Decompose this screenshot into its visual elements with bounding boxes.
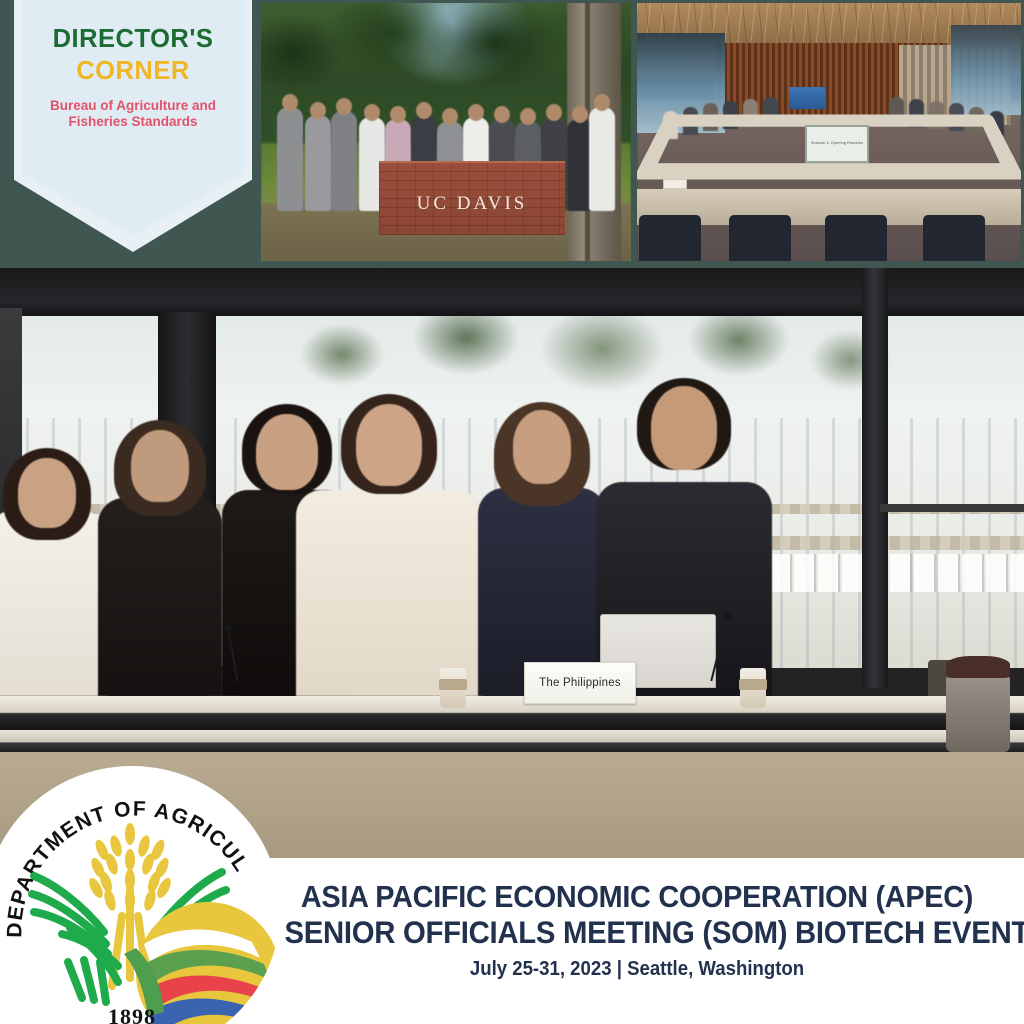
coffee-cup: [740, 668, 766, 708]
conf-nameplate: [663, 179, 687, 189]
conf-chair: [729, 215, 791, 261]
directors-corner-ribbon: DIRECTOR'S CORNER Bureau of Agriculture …: [0, 0, 258, 268]
poster-root: DIRECTOR'S CORNER Bureau of Agriculture …: [0, 0, 1024, 1024]
department-of-agriculture-seal: DEPARTMENT OF AGRICULTURE: [0, 766, 280, 1024]
caption-line-1: ASIA PACIFIC ECONOMIC COOPERATION (APEC): [285, 880, 990, 915]
delegate-2: [98, 498, 222, 696]
conf-chair: [923, 215, 985, 261]
ribbon-title-line2: CORNER: [22, 58, 244, 85]
conf-chair: [639, 215, 701, 261]
mp-table-edge: [0, 730, 1024, 752]
coffee-cup: [440, 668, 466, 708]
uc-davis-group-photo: UC DAVIS: [261, 3, 631, 261]
uc-davis-sign-wall: UC DAVIS: [379, 161, 565, 235]
ribbon-title-line1: DIRECTOR'S: [22, 26, 244, 53]
philippines-nameplate: The Philippines: [524, 662, 636, 704]
philippines-nameplate-text: The Philippines: [539, 677, 621, 689]
seal-year: 1898: [108, 1004, 156, 1024]
seal-artwork: DEPARTMENT OF AGRICULTURE: [0, 766, 280, 1024]
delegate-1: [0, 510, 106, 696]
ribbon-subtitle: Bureau of Agriculture and Fisheries Stan…: [22, 98, 244, 132]
uc-davis-sign-text: UC DAVIS: [379, 193, 565, 215]
mp-back-table: [0, 696, 1024, 730]
conf-screen-text: Session 1: Opening Remarks: [807, 141, 867, 145]
conf-center-monitor: Session 1: Opening Remarks: [805, 125, 869, 163]
mp-equipment-top: [946, 656, 1010, 678]
caption-subtitle: July 25-31, 2023 | Seattle, Washington: [285, 958, 990, 981]
caption-line-2: SENIOR OFFICIALS MEETING (SOM) BIOTECH E…: [285, 915, 990, 950]
conf-chair: [825, 215, 887, 261]
delegate-4: [296, 490, 482, 696]
apec-conference-room-photo: Session 1: Opening Remarks: [637, 3, 1021, 261]
conf-right-windows: [951, 25, 1021, 115]
mp-window-rail: [880, 504, 1024, 512]
mp-equipment: [946, 674, 1010, 752]
mp-window-mullion: [862, 268, 888, 688]
event-caption: ASIA PACIFIC ECONOMIC COOPERATION (APEC)…: [258, 880, 1016, 981]
ribbon-text-block: DIRECTOR'S CORNER Bureau of Agriculture …: [22, 26, 244, 131]
conf-far-presentation-screen: [789, 87, 825, 109]
